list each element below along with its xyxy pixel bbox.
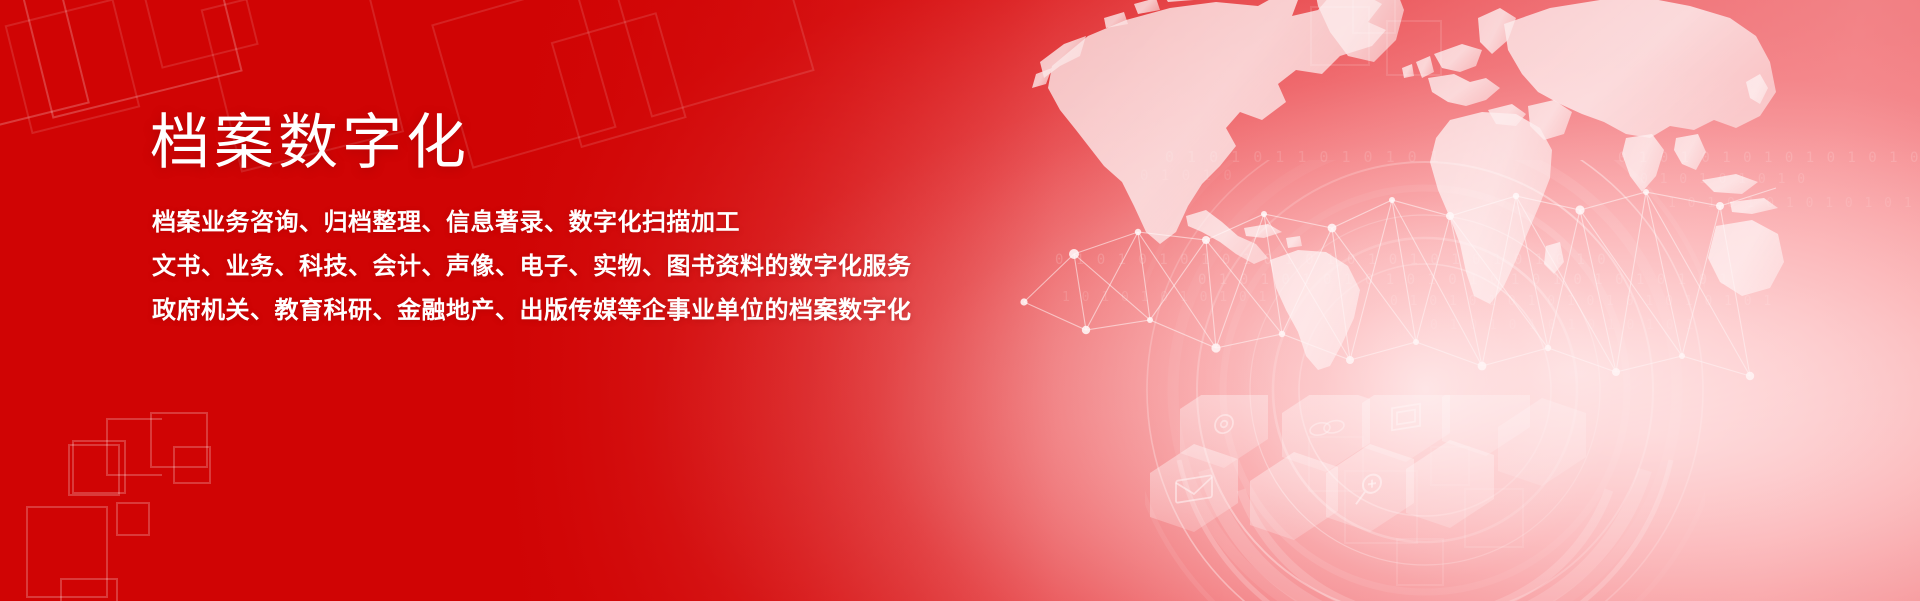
hexagon-icon-cluster — [1150, 395, 1630, 585]
page-title: 档案数字化 — [150, 108, 1010, 177]
hero-text-block: 档案数字化 档案业务咨询、归档整理、信息著录、数字化扫描加工 文书、业务、科技、… — [150, 108, 1010, 333]
service-list-item: 政府机关、教育科研、金融地产、出版传媒等企事业单位的档案数字化 — [152, 289, 1010, 333]
decor-squares-bottom-left — [10, 430, 430, 601]
service-list-item: 文书、业务、科技、会计、声像、电子、实物、图书资料的数字化服务 — [152, 245, 1010, 289]
service-list-item: 档案业务咨询、归档整理、信息著录、数字化扫描加工 — [152, 201, 1010, 245]
network-mesh-graphic — [1020, 170, 1780, 390]
banner-hero: 0 1 0 1 0 1 1 0 1 0 1 0 1 0 1 0 1 0 1 0 … — [0, 0, 1920, 601]
service-list: 档案业务咨询、归档整理、信息著录、数字化扫描加工 文书、业务、科技、会计、声像、… — [152, 201, 1010, 333]
